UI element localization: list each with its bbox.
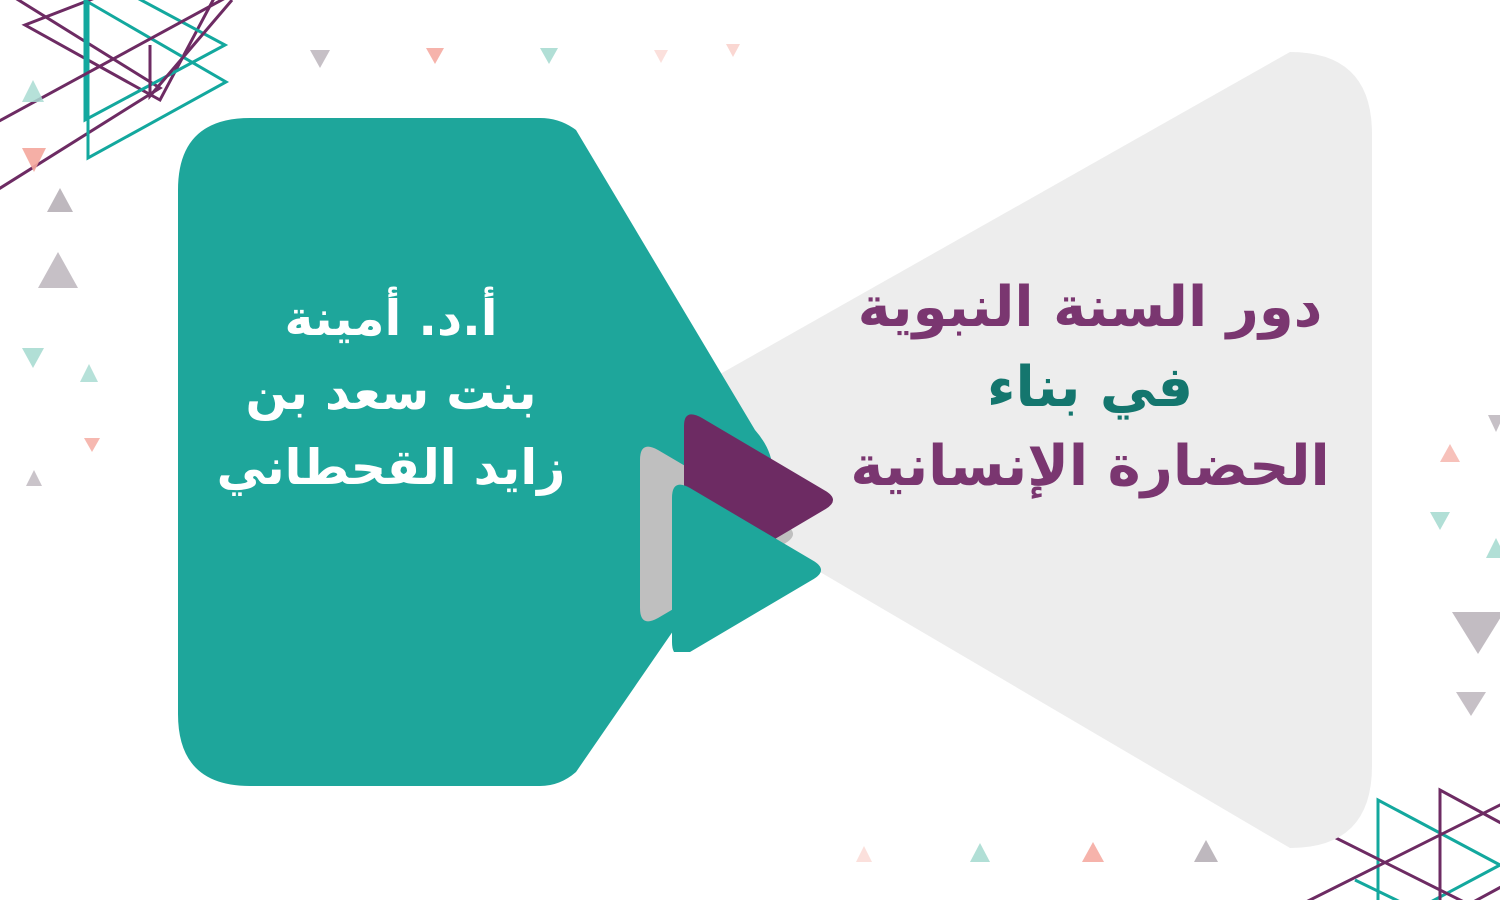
play-triangles-logo <box>612 412 842 652</box>
author-line-2: بنت سعد بن <box>196 356 586 430</box>
author-name: أ.د. أمينة بنت سعد بن زايد القحطاني <box>196 282 586 505</box>
title-line-2: في بناء <box>830 348 1350 428</box>
slide-canvas: دور السنة النبوية في بناء الحضارة الإنسا… <box>0 0 1500 900</box>
slide-title: دور السنة النبوية في بناء الحضارة الإنسا… <box>830 268 1350 507</box>
author-line-1: أ.د. أمينة <box>196 282 586 356</box>
author-line-3: زايد القحطاني <box>196 431 586 505</box>
title-line-3: الحضارة الإنسانية <box>830 427 1350 507</box>
title-line-1: دور السنة النبوية <box>830 268 1350 348</box>
